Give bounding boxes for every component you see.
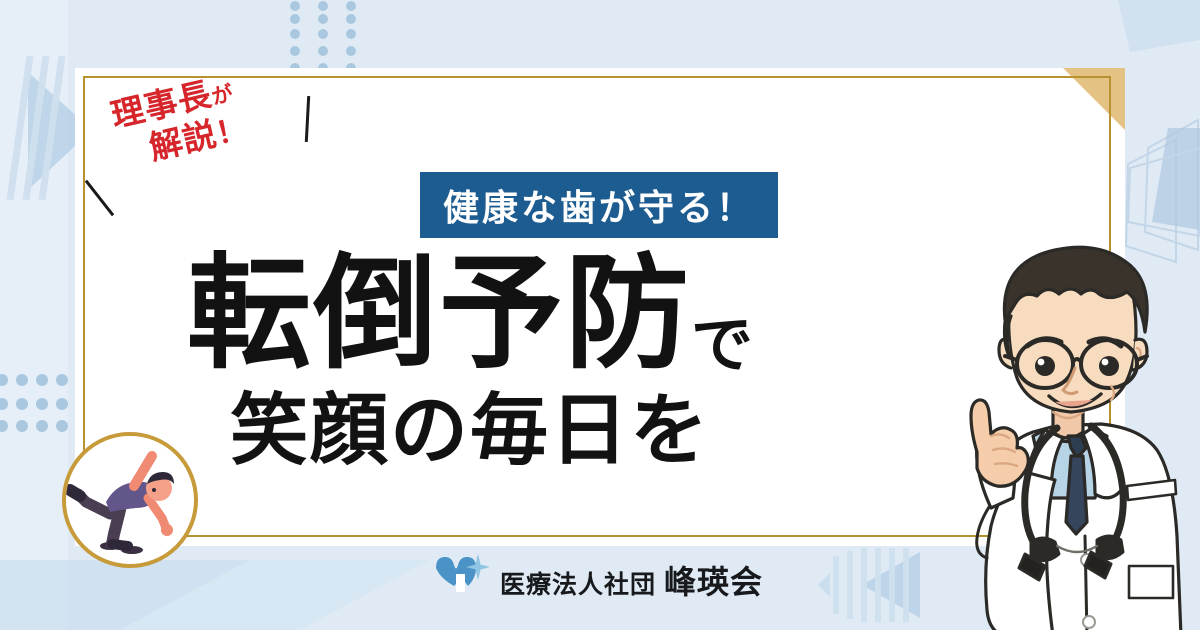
falling-person-icon (62, 432, 198, 568)
badge-label: 健康な歯が守る！ (443, 179, 755, 231)
organization-logo: 医療法人社団 峰瑛会 (432, 552, 763, 608)
eyebrow-line-1-particle: が (209, 81, 236, 109)
tooth-heart-sparkle-mark (432, 552, 490, 609)
logo-org-type: 医療法人社団 (500, 565, 656, 601)
headline-subline: 笑顔の毎日を (230, 385, 710, 476)
headline-main-keyword: 転倒予防 (187, 242, 691, 386)
headline-suffix: で (691, 308, 753, 381)
doctor-character (905, 236, 1200, 630)
badge-banner: 健康な歯が守る！ (420, 172, 778, 238)
poster-canvas: 理事長が 解説！ 健康な歯が守る！ 転倒予防で 笑顔の毎日を (0, 0, 1200, 630)
logo-org-name: 峰瑛会 (664, 557, 763, 603)
logo-text-group: 医療法人社団 峰瑛会 (500, 557, 763, 603)
eyebrow-line-2-bang: ！ (213, 111, 251, 152)
